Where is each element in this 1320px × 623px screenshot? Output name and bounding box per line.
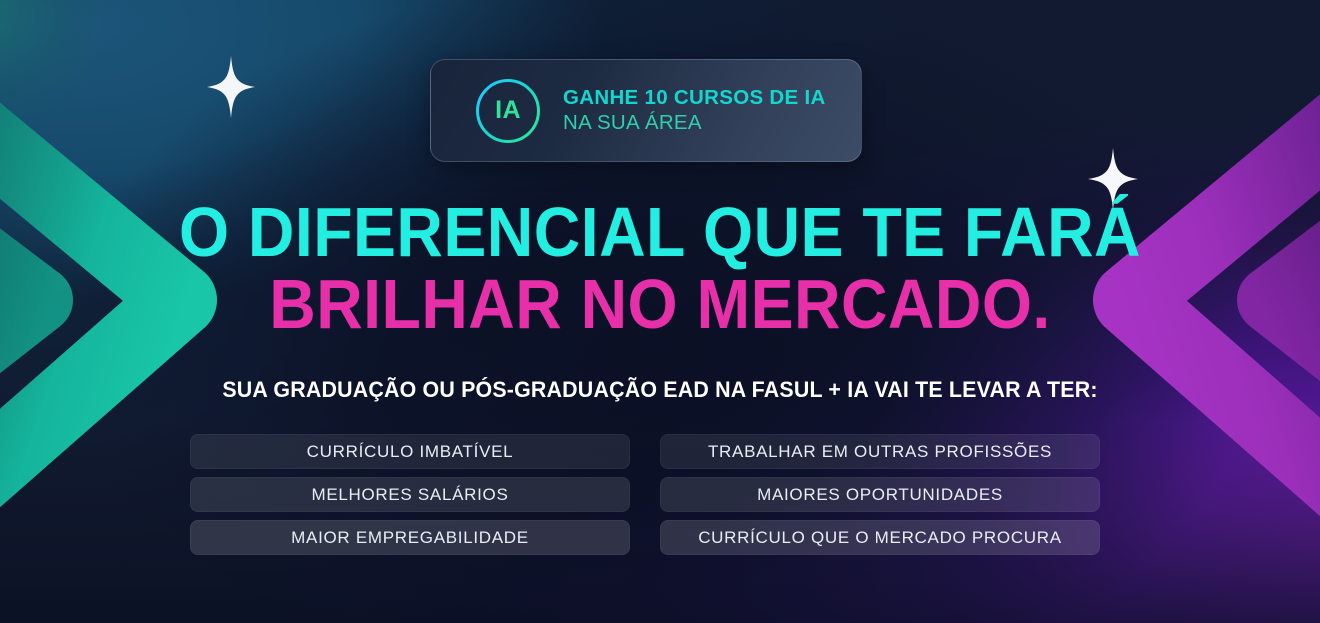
subhead-text: SUA GRADUAÇÃO OU PÓS-GRADUAÇÃO EAD NA FA…	[33, 377, 1287, 403]
benefit-pill[interactable]: CURRÍCULO IMBATÍVEL	[190, 434, 630, 469]
badge-text-block: GANHE 10 CURSOS DE IA NA SUA ÁREA	[563, 86, 826, 135]
benefits-grid: CURRÍCULO IMBATÍVEL TRABALHAR EM OUTRAS …	[190, 434, 1100, 555]
ai-courses-badge[interactable]: IA GANHE 10 CURSOS DE IA NA SUA ÁREA	[430, 59, 862, 162]
benefit-pill[interactable]: CURRÍCULO QUE O MERCADO PROCURA	[660, 520, 1100, 555]
badge-line-2: NA SUA ÁREA	[563, 111, 826, 135]
promo-banner: IA GANHE 10 CURSOS DE IA NA SUA ÁREA O D…	[0, 0, 1320, 623]
headline-line-2: BRILHAR NO MERCADO.	[53, 268, 1267, 340]
ia-label: IA	[495, 96, 521, 125]
benefit-pill[interactable]: MAIORES OPORTUNIDADES	[660, 477, 1100, 512]
ia-circle-icon: IA	[475, 78, 541, 144]
badge-line-1: GANHE 10 CURSOS DE IA	[563, 86, 826, 110]
benefit-pill[interactable]: TRABALHAR EM OUTRAS PROFISSÕES	[660, 434, 1100, 469]
benefit-pill[interactable]: MAIOR EMPREGABILIDADE	[190, 520, 630, 555]
headline-line-1: O DIFERENCIAL QUE TE FARÁ	[53, 196, 1267, 268]
benefit-pill[interactable]: MELHORES SALÁRIOS	[190, 477, 630, 512]
headline-block: O DIFERENCIAL QUE TE FARÁ BRILHAR NO MER…	[0, 196, 1320, 340]
